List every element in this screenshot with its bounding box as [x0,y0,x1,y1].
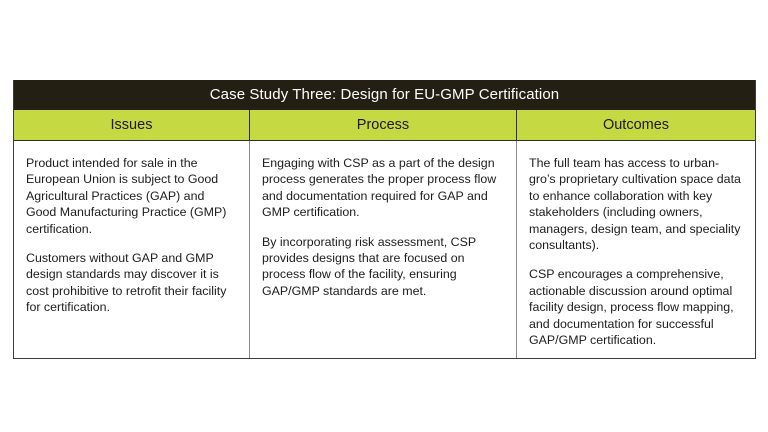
outcomes-paragraph-2: CSP encourages a comprehensive, actionab… [529,266,742,348]
issues-paragraph-2: Customers without GAP and GMP design sta… [26,250,236,316]
issues-paragraph-1: Product intended for sale in the Europea… [26,155,236,237]
table-cell-process: Engaging with CSP as a part of the desig… [249,141,516,358]
outcomes-paragraph-1: The full team has access to urban-gro’s … [529,155,742,253]
column-header-outcomes: Outcomes [516,110,755,140]
table-cell-issues: Product intended for sale in the Europea… [14,141,249,358]
table-body-row: Product intended for sale in the Europea… [14,141,755,358]
process-paragraph-1: Engaging with CSP as a part of the desig… [262,155,503,221]
column-header-issues: Issues [14,110,249,140]
table-header-row: Issues Process Outcomes [14,110,755,141]
table-title: Case Study Three: Design for EU-GMP Cert… [14,80,755,110]
table-cell-outcomes: The full team has access to urban-gro’s … [516,141,755,358]
case-study-table: Case Study Three: Design for EU-GMP Cert… [13,80,756,359]
page-canvas: Case Study Three: Design for EU-GMP Cert… [0,0,768,432]
column-header-process: Process [249,110,516,140]
process-paragraph-2: By incorporating risk assessment, CSP pr… [262,234,503,300]
